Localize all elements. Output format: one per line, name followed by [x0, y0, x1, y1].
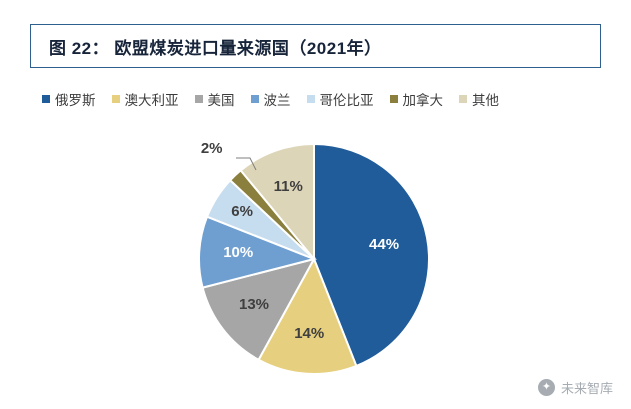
legend-item-2[interactable]: 美国 — [195, 89, 235, 109]
legend-swatch-0 — [42, 95, 50, 103]
legend-item-1[interactable]: 澳大利亚 — [112, 89, 179, 109]
chart-legend: 俄罗斯 澳大利亚 美国 波兰 哥伦比亚 加拿大 其他 — [42, 88, 592, 110]
legend-swatch-5 — [390, 95, 398, 103]
legend-item-0[interactable]: 俄罗斯 — [42, 89, 96, 109]
legend-swatch-4 — [307, 95, 315, 103]
legend-item-5[interactable]: 加拿大 — [390, 89, 444, 109]
legend-item-3[interactable]: 波兰 — [251, 89, 291, 109]
legend-swatch-6 — [459, 95, 467, 103]
legend-swatch-1 — [112, 95, 120, 103]
legend-label-0: 俄罗斯 — [55, 89, 96, 109]
legend-swatch-2 — [195, 95, 203, 103]
chart-page: 图 22： 欧盟煤炭进口量来源国（2021年） 俄罗斯 澳大利亚 美国 波兰 哥… — [0, 0, 631, 409]
page-title: 图 22： 欧盟煤炭进口量来源国（2021年） — [49, 34, 382, 59]
slice-label-4: 6% — [224, 203, 260, 220]
legend-swatch-3 — [251, 95, 259, 103]
legend-label-3: 波兰 — [264, 89, 291, 109]
figure-title-box: 图 22： 欧盟煤炭进口量来源国（2021年） — [30, 24, 601, 68]
slice-label-1: 14% — [291, 325, 327, 342]
pie-chart: 44%14%13%10%6%2%11% — [150, 118, 490, 388]
slice-label-3: 10% — [220, 244, 256, 261]
legend-label-6: 其他 — [472, 89, 499, 109]
slice-label-6: 11% — [270, 178, 306, 195]
legend-label-2: 美国 — [208, 89, 235, 109]
slice-label-2: 13% — [236, 296, 272, 313]
legend-item-4[interactable]: 哥伦比亚 — [307, 89, 374, 109]
circle-logo-icon: ✦ — [538, 379, 555, 396]
legend-label-1: 澳大利亚 — [125, 89, 179, 109]
legend-label-4: 哥伦比亚 — [320, 89, 374, 109]
slice-label-0: 44% — [366, 236, 402, 253]
legend-item-6[interactable]: 其他 — [459, 89, 499, 109]
legend-label-5: 加拿大 — [403, 89, 444, 109]
watermark-label: 未来智库 — [561, 378, 613, 397]
watermark: ✦ 未来智库 — [538, 378, 613, 397]
slice-label-5: 2% — [194, 140, 230, 157]
